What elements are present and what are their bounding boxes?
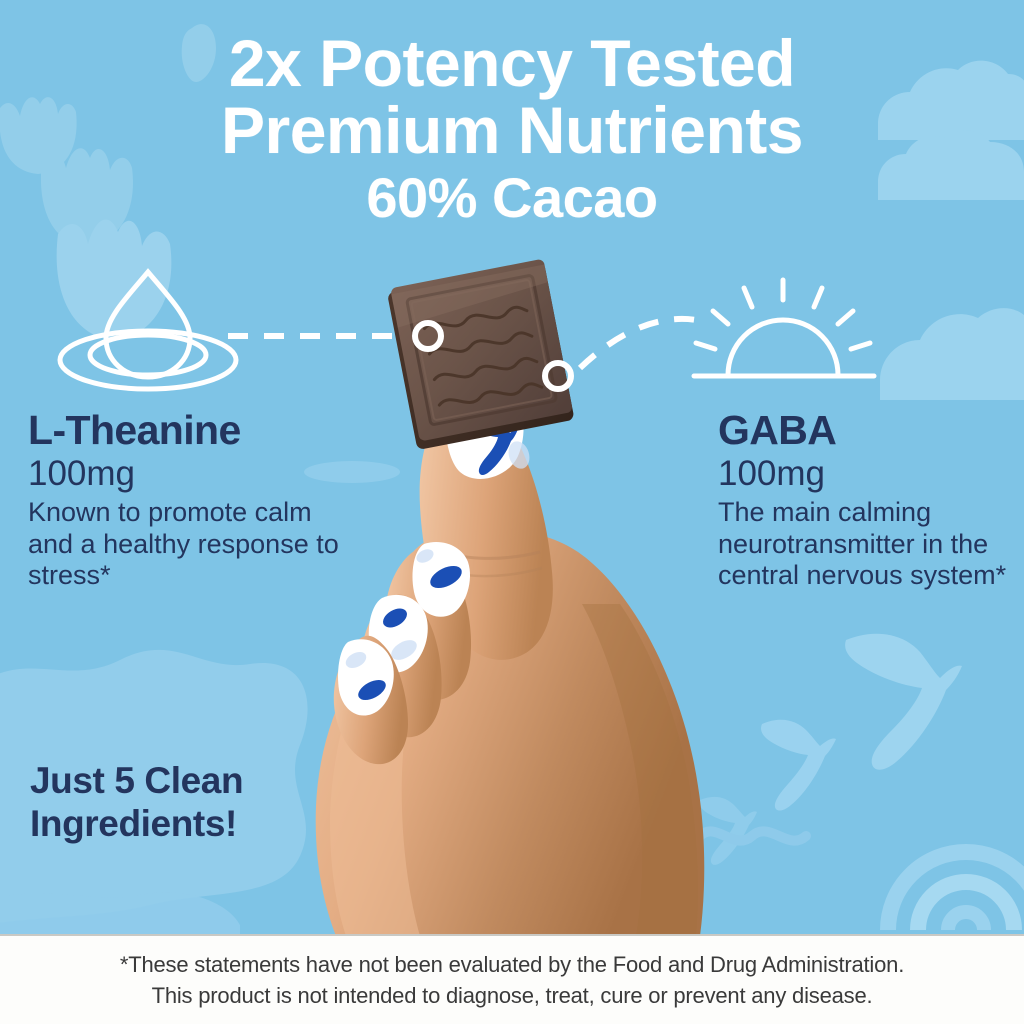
nutrient-block-l-theanine: L-Theanine 100mg Known to promote calm a…	[28, 409, 348, 592]
water-droplet-icon	[60, 272, 236, 389]
clean-ingredients-line-2: Ingredients!	[30, 803, 360, 846]
chocolate-square	[386, 259, 574, 451]
disclaimer-banner: *These statements have not been evaluate…	[0, 934, 1024, 1024]
nutrient-dose: 100mg	[718, 454, 1018, 493]
disclaimer-line-1: *These statements have not been evaluate…	[120, 949, 904, 980]
sunrise-icon	[694, 280, 874, 376]
nutrient-name: GABA	[718, 409, 1018, 452]
nutrient-dose: 100mg	[28, 454, 348, 493]
connector-dashed-arc-right	[580, 319, 706, 368]
hand-holding-chocolate	[316, 386, 705, 936]
nutrient-description: Known to promote calm and a healthy resp…	[28, 497, 348, 592]
product-marketing-image: 2x Potency Tested Premium Nutrients 60% …	[0, 0, 1024, 1024]
clean-ingredients-callout: Just 5 Clean Ingredients!	[30, 760, 360, 846]
nutrient-block-gaba: GABA 100mg The main calming neurotransmi…	[718, 409, 1018, 592]
nutrient-name: L-Theanine	[28, 409, 348, 452]
clean-ingredients-line-1: Just 5 Clean	[30, 760, 360, 803]
nutrient-description: The main calming neurotransmitter in the…	[718, 497, 1018, 592]
disclaimer-line-2: This product is not intended to diagnose…	[152, 980, 873, 1011]
